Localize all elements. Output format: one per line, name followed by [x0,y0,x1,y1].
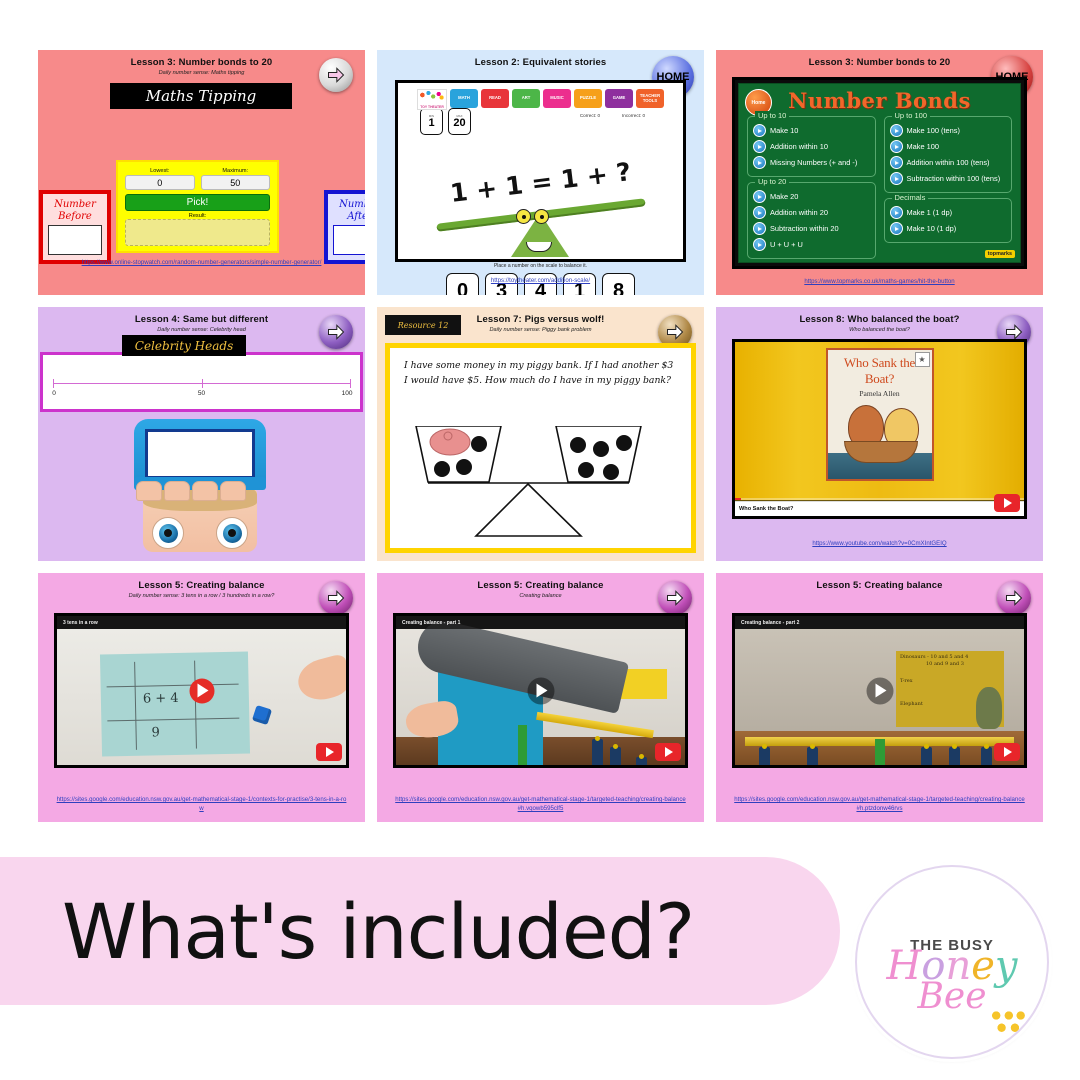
frog-eyes-icon [516,209,549,224]
lowest-column: Lowest: 0 [125,168,195,190]
slide-thumbnail-3-tens-in-a-row[interactable]: Lesson 5: Creating balance Daily number … [38,573,365,822]
slide-thumbnail-equivalent-stories[interactable]: Lesson 2: Equivalent stories HOME TOY TH… [377,50,704,295]
bond-item-label: U + U + U [770,240,803,249]
iris-left [159,524,178,543]
topmarks-stage: Home Number Bonds Up to 10 Make 10 Addit… [732,77,1027,269]
arrow-right-icon [1004,588,1024,608]
finger [136,481,162,501]
result-display [125,219,270,246]
whats-included-banner: What's included? [0,857,840,1005]
note-line-3: T-rex [896,668,1004,685]
bond-column-left: Up to 10 Make 10 Addition within 10 Miss… [747,116,876,264]
arrow-right-icon [665,588,685,608]
slide-subtitle: Daily number sense: Celebrity head [38,327,365,333]
bond-item[interactable]: Make 10 [753,124,870,137]
celebrity-head-illustration [134,419,266,552]
slide-subtitle: Creating balance [377,593,704,599]
slide-url[interactable]: https://www.online-stopwatch.com/random-… [38,258,365,267]
nav-button-read[interactable]: READ [481,89,509,108]
slide-url[interactable]: https://sites.google.com/education.nsw.g… [377,795,704,813]
correct-count: Correct: 0 [580,113,600,118]
group-decimals: Decimals Make 1 (1 dp) Make 10 (1 dp) [884,198,1013,243]
slide-title: Lesson 4: Same but different [38,314,365,325]
video-caption: Who Sank the Boat? [735,501,1024,516]
written-answer: 9 [151,725,160,740]
number-after-box[interactable]: Number After [324,190,365,264]
fingers [136,481,246,499]
play-icon [753,140,766,153]
bond-item-label: Addition within 100 (tens) [907,158,990,167]
tick-0 [53,379,54,388]
youtube-badge[interactable] [655,743,681,761]
cap-image [134,419,266,485]
celebrity-heads-banner: Celebrity Heads [122,335,246,356]
grid-line-v2 [194,661,197,749]
bond-item-label: Addition within 20 [770,208,828,217]
hanging-weight [636,757,647,768]
bond-column-right: Up to 100 Make 100 (tens) Make 100 Addit… [884,116,1013,264]
hanging-weight [610,747,621,768]
book-author: Pamela Allen [828,389,932,398]
pick-button[interactable]: Pick! [125,194,270,211]
slide-title: Lesson 5: Creating balance [38,580,365,591]
note-line-2: 10 and 9 and 3 [896,661,1004,668]
slide-url[interactable]: https://sites.google.com/education.nsw.g… [38,795,365,813]
slide-thumbnail-maths-tipping[interactable]: Lesson 3: Number bonds to 20 Daily numbe… [38,50,365,295]
paper-sheet: 6 + 4 9 [100,651,250,756]
nav-button-game[interactable]: GAME [605,89,633,108]
number-before-label: Number Before [54,199,96,223]
bond-item-label: Missing Numbers (+ and -) [770,158,857,167]
lowest-label: Lowest: [125,168,195,174]
next-arrow-button[interactable] [997,581,1031,615]
grid-line-v1 [134,662,137,750]
number-before-field[interactable] [48,225,102,255]
video-title-bar: 3 tens in a row [57,616,346,629]
logo-line-3: Bee [917,980,986,1014]
thumbnail-grid: Lesson 3: Number bonds to 20 Daily numbe… [38,50,1048,822]
next-arrow-button[interactable] [319,315,353,349]
slide-thumbnail-celebrity-heads[interactable]: Lesson 4: Same but different Daily numbe… [38,307,365,561]
grid-line-h2 [107,718,239,722]
slide-thumbnail-who-balanced-the-boat[interactable]: Lesson 8: Who balanced the boat? Who bal… [716,307,1043,561]
book-cover: ★ Who Sank the Boat? Pamela Allen [826,348,934,481]
video-player[interactable]: Dinosaurs - 10 and 5 and 4 10 and 9 and … [732,613,1027,768]
arrow-right-icon [326,65,346,85]
slide-page: Lesson 3: Number bonds to 20 Daily numbe… [0,0,1080,1080]
bond-item-label: Make 20 [770,192,798,201]
group-up-to-10: Up to 10 Make 10 Addition within 10 Miss… [747,116,876,177]
min-chip[interactable]: MIN 1 [420,108,443,135]
pupil-left [522,215,526,219]
number-line-axis: 0 50 100 [53,383,350,384]
star-icon: ★ [915,352,930,367]
eye-left-icon [152,517,184,549]
logo-dots [420,91,444,101]
bond-item[interactable]: Subtraction within 100 (tens) [890,172,1007,185]
nav-button-teacher-tools[interactable]: TEACHER TOOLS [636,89,664,108]
bond-item[interactable]: Make 1 (1 dp) [890,206,1007,219]
frog-eye-right [534,209,549,224]
play-icon [890,156,903,169]
bond-item[interactable]: Missing Numbers (+ and -) [753,156,870,169]
play-icon [890,140,903,153]
slide-thumbnail-pigs-versus-wolf[interactable]: Lesson 7: Pigs versus wolf! Daily number… [377,307,704,561]
bond-item[interactable]: U + U + U [753,238,870,251]
note-line-1: Dinosaurs - 10 and 5 and 4 [896,651,1004,661]
nav-button-art[interactable]: ART [512,89,540,108]
video-title-bar: Creating balance - part 2 [735,616,1024,629]
finger [192,481,218,501]
slide-thumbnail-creating-balance-part2[interactable]: Lesson 5: Creating balance Dinosaurs - 1… [716,573,1043,822]
bond-item[interactable]: Make 20 [753,190,870,203]
honeycomb-icon [989,1009,1025,1035]
play-icon [890,124,903,137]
next-arrow-button[interactable] [658,581,692,615]
resource-tag: Resource 12 [385,315,461,335]
frog-eye-left [516,209,531,224]
bond-item-label: Make 100 [907,142,939,151]
bond-item[interactable]: Make 10 (1 dp) [890,222,1007,235]
play-button[interactable] [189,678,214,703]
finger [220,481,246,501]
balance-stand [518,725,527,768]
play-icon [890,172,903,185]
slide-thumbnail-number-bonds[interactable]: Lesson 3: Number bonds to 20 HOME Home N… [716,50,1043,295]
nav-button-music[interactable]: MUSIC [543,89,571,108]
brand-logo: THE BUSY Honey Bee [855,865,1049,1059]
bond-item[interactable]: Make 100 [890,140,1007,153]
slide-thumbnail-creating-balance-part1[interactable]: Lesson 5: Creating balance Creating bala… [377,573,704,822]
number-after-label: Number After [339,199,365,223]
grid-line-h1 [107,684,239,688]
video-player[interactable]: 6 + 4 9 3 tens in a row [54,613,349,768]
group-up-to-20: Up to 20 Make 20 Addition within 20 Subt… [747,182,876,259]
play-button[interactable] [527,677,554,704]
balance-post [875,739,885,768]
youtube-badge[interactable] [994,743,1020,761]
bond-item[interactable]: Addition within 100 (tens) [890,156,1007,169]
bond-item-label: Make 100 (tens) [907,126,960,135]
arrow-right-icon [326,322,346,342]
slide-subtitle: Daily number sense: Maths tipping [38,70,365,76]
scale-hint: Place a number on the scale to balance i… [398,263,683,269]
group-title: Decimals [892,193,929,202]
bond-item[interactable]: Subtraction within 20 [753,222,870,235]
banner-heading: What's included? [62,887,694,976]
slide-subtitle: Daily number sense: 3 tens in a row / 3 … [38,593,365,599]
eye-right-icon [216,517,248,549]
play-icon [753,238,766,251]
slide-title: Lesson 3: Number bonds to 20 [38,57,365,68]
play-icon [890,206,903,219]
play-icon [890,222,903,235]
tick-label-50: 50 [198,390,205,397]
bond-item[interactable]: Addition within 20 [753,206,870,219]
bond-columns: Up to 10 Make 10 Addition within 10 Miss… [739,113,1020,267]
min-value: 1 [428,118,434,129]
slide-subtitle: Who balanced the boat? [716,327,1043,333]
slide-title: Lesson 8: Who balanced the boat? [716,314,1043,325]
play-button[interactable] [866,677,893,704]
maximum-column: Maximum: 50 [201,168,271,190]
maths-tipping-label: Maths Tipping [146,87,257,105]
bond-item-label: Make 10 (1 dp) [907,224,957,233]
group-title: Up to 10 [755,111,789,120]
slide-url[interactable]: https://www.youtube.com/watch?v=0CmXIntG… [716,539,1043,548]
toytheater-logo: TOY THEATER [417,89,447,110]
youtube-player[interactable]: ★ Who Sank the Boat? Pamela Allen ▶ ▶| 🔊… [732,339,1027,519]
bond-item-label: Subtraction within 100 (tens) [907,174,1001,183]
bond-item[interactable]: Addition within 10 [753,140,870,153]
slide-url[interactable]: https://sites.google.com/education.nsw.g… [716,795,1043,813]
video-frame: ★ Who Sank the Boat? Pamela Allen [735,342,1024,516]
bond-item[interactable]: Make 100 (tens) [890,124,1007,137]
nav-button-math[interactable]: MATH [450,89,478,108]
topmarks-brand: topmarks [985,250,1015,258]
written-equation: 6 + 4 [143,691,179,707]
maximum-label: Maximum: [201,168,271,174]
number-line-panel: 0 50 100 [40,352,363,412]
max-chip[interactable]: MAX 20 [448,108,471,135]
group-title: Up to 100 [892,111,931,120]
arrow-right-icon [326,588,346,608]
dinosaur-toy [976,687,1002,729]
tick-label-0: 0 [52,390,56,397]
group-up-to-100: Up to 100 Make 100 (tens) Make 100 Addit… [884,116,1013,193]
hanging-weight [981,747,992,768]
video-title-bar: Creating balance - part 1 [396,616,685,629]
balance-svg [406,426,696,544]
lowest-input[interactable]: 0 [125,175,195,190]
play-icon [753,156,766,169]
slide-title: Lesson 5: Creating balance [716,580,1043,591]
play-icon [753,190,766,203]
arrow-right-icon [665,322,685,342]
bond-item-label: Subtraction within 20 [770,224,839,233]
group-title: Up to 20 [755,177,789,186]
celebrity-heads-label: Celebrity Heads [135,339,233,353]
toytheater-logo-text: TOY THEATER [420,105,444,109]
generator-range-row: Lowest: 0 Maximum: 50 [125,168,270,190]
bond-item-label: Make 10 [770,126,798,135]
dice-object [252,705,272,725]
problem-stage: I have some money in my piggy bank. If I… [385,343,696,553]
tick-label-100: 100 [342,390,353,397]
video-player[interactable]: Creating balance - part 1 [393,613,688,768]
game-title: Number Bonds [739,84,1020,113]
play-icon [753,206,766,219]
slide-url[interactable]: https://www.topmarks.co.uk/maths-games/h… [716,277,1043,286]
maths-tipping-banner: Maths Tipping [110,83,292,109]
nav-button-puzzle[interactable]: PUZZLE [574,89,602,108]
celebrity-name-card[interactable] [145,429,255,479]
play-icon [753,124,766,137]
problem-question: I have some money in my piggy bank. If I… [404,358,677,388]
random-number-generator[interactable]: Lowest: 0 Maximum: 50 Pick! Result: [116,160,279,253]
ruler-beam [536,712,654,738]
hanging-weight [949,747,960,768]
iris-right [223,524,242,543]
incorrect-count: Incorrect: 0 [622,113,645,118]
next-arrow-button[interactable] [319,58,353,92]
pupil-right [540,215,544,219]
number-before-box[interactable]: Number Before [39,190,111,264]
hanging-weight [807,747,818,768]
slide-url[interactable]: https://toytheater.com/addition-scale/ [377,276,704,285]
balance-diagram [406,426,675,541]
bond-item-label: Make 1 (1 dp) [907,208,953,217]
boat-illustration [844,441,918,463]
play-icon [753,222,766,235]
hanging-weight [759,747,770,768]
toytheater-stage: TOY THEATER MATH READ ART MUSIC PUZZLE G… [395,80,686,262]
youtube-badge[interactable] [316,743,342,761]
next-arrow-button[interactable] [319,581,353,615]
game-board: Home Number Bonds Up to 10 Make 10 Addit… [738,83,1021,263]
maximum-input[interactable]: 50 [201,175,271,190]
tick-100 [350,379,351,388]
finger [164,481,190,501]
max-value: 20 [453,118,465,129]
tick-50 [202,379,203,388]
number-after-field[interactable] [333,225,365,255]
toytheater-nav: TOY THEATER MATH READ ART MUSIC PUZZLE G… [398,83,683,110]
youtube-badge[interactable] [994,494,1020,512]
slide-title: Lesson 5: Creating balance [377,580,704,591]
hanging-weight [921,747,932,768]
bond-item-label: Addition within 10 [770,142,828,151]
hanging-weight [592,739,603,768]
hand-illustration [294,653,349,705]
